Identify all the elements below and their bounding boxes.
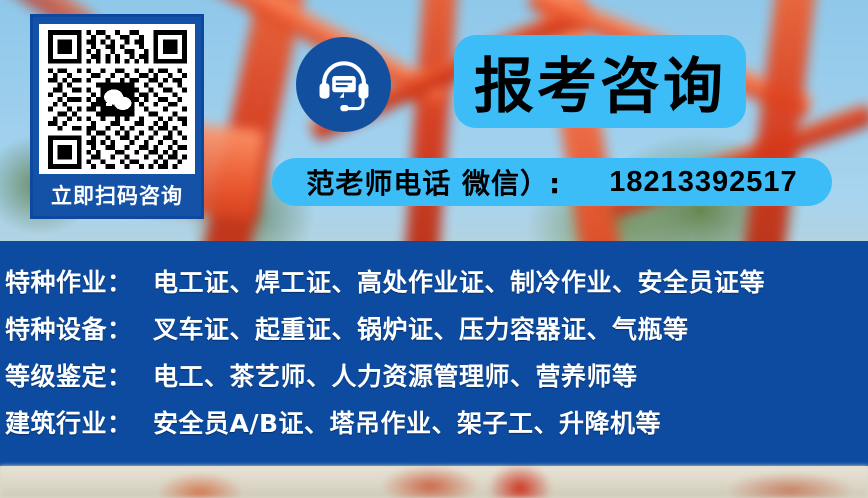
course-list-panel: 特种作业： 电工证、焊工证、高处作业证、制冷作业、安全员证等 特种设备： 叉车证… <box>0 241 868 466</box>
promo-poster: 立即扫码咨询 报考咨询 范老师电话 微信）: 18213392517 特种作业： <box>0 0 868 498</box>
course-row-special-operations: 特种作业： 电工证、焊工证、高处作业证、制冷作业、安全员证等 <box>5 263 868 310</box>
course-label: 等级鉴定： <box>5 357 153 393</box>
course-value: 电工证、焊工证、高处作业证、制冷作业、安全员证等 <box>153 263 765 299</box>
qr-card[interactable]: 立即扫码咨询 <box>30 14 204 219</box>
background-bottom-strip <box>0 466 868 498</box>
course-label: 特种作业： <box>5 263 153 299</box>
headset-support-icon <box>315 56 373 114</box>
course-value: 叉车证、起重证、锅炉证、压力容器证、气瓶等 <box>153 310 689 346</box>
headset-support-badge[interactable] <box>296 37 391 132</box>
course-label: 特种设备： <box>5 310 153 346</box>
course-row-construction-industry: 建筑行业： 安全员A/B证、塔吊作业、架子工、升降机等 <box>5 404 868 451</box>
course-row-grade-certification: 等级鉴定： 电工、茶艺师、人力资源管理师、营养师等 <box>5 357 868 404</box>
title-pill-label: 报考咨询 <box>474 38 726 125</box>
qr-code-frame <box>39 24 195 174</box>
qr-caption: 立即扫码咨询 <box>51 174 183 216</box>
phone-number: 18213392517 <box>609 166 797 199</box>
phone-label: 范老师电话 微信）: <box>306 162 561 202</box>
course-value: 电工、茶艺师、人力资源管理师、营养师等 <box>153 357 638 393</box>
phone-pill[interactable]: 范老师电话 微信）: 18213392517 <box>272 158 832 206</box>
title-pill[interactable]: 报考咨询 <box>454 35 746 128</box>
qr-code-icon <box>48 30 187 169</box>
course-value: 安全员A/B证、塔吊作业、架子工、升降机等 <box>153 404 661 440</box>
course-row-special-equipment: 特种设备： 叉车证、起重证、锅炉证、压力容器证、气瓶等 <box>5 310 868 357</box>
course-label: 建筑行业： <box>5 404 153 440</box>
